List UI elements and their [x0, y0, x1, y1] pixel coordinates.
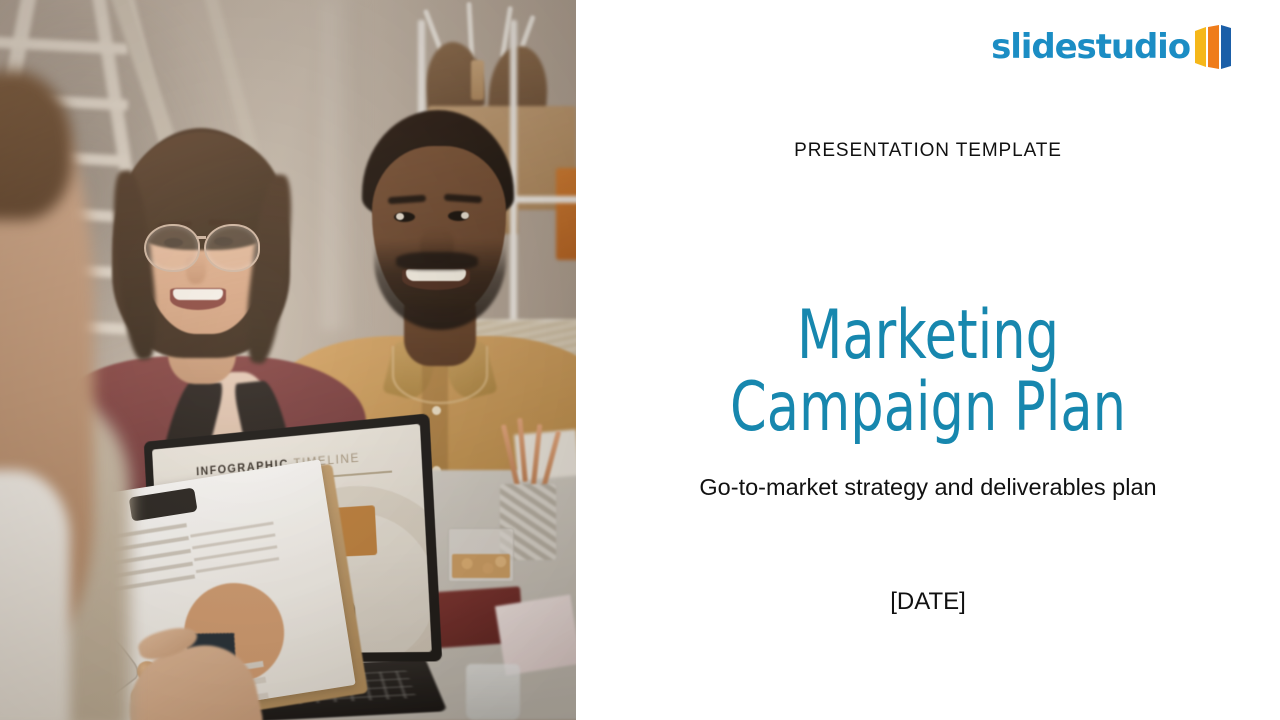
eyeglasses	[144, 224, 270, 270]
brand-logo[interactable]: slidestudio	[991, 24, 1232, 70]
slidestudio-bars-mark	[1194, 25, 1232, 69]
date-placeholder[interactable]: [DATE]	[576, 588, 1280, 616]
foreground-person-sleeve	[0, 470, 70, 720]
drinking-glass	[466, 664, 520, 720]
subtitle: Go-to-market strategy and deliverables p…	[672, 472, 1184, 502]
brand-wordmark: slidestudio	[991, 30, 1190, 64]
page-title: Marketing Campaign Plan	[670, 300, 1186, 446]
snack-container	[448, 528, 514, 582]
eyebrow-label: PRESENTATION TEMPLATE	[576, 140, 1280, 162]
presentation-slide: INFOGRAPHIC TIMELINE	[0, 0, 1280, 720]
cover-photo: INFOGRAPHIC TIMELINE	[0, 0, 576, 720]
title-content-panel: slidestudio PRESENTATION TEMPLATE Market…	[576, 0, 1280, 720]
